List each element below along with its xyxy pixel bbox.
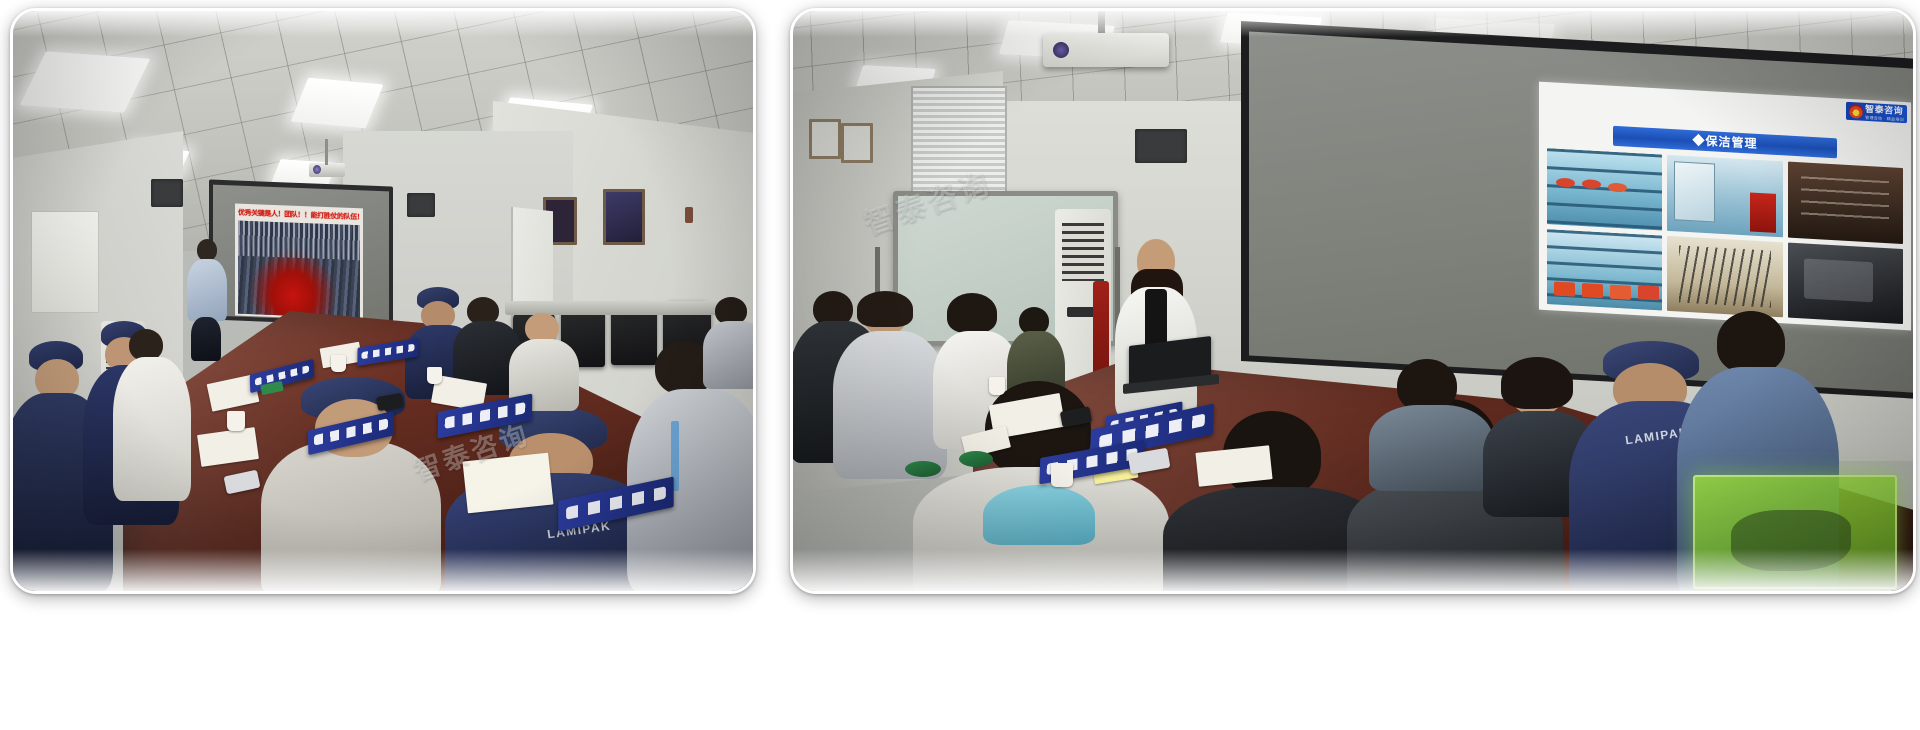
ac-vents <box>1062 223 1104 281</box>
paper-cup[interactable] <box>331 355 346 372</box>
left-photo[interactable]: 优秀关键是人！团队！！能打胜仗的队伍！！！ <box>10 8 756 594</box>
attendee <box>113 329 187 499</box>
presenter-trousers <box>191 317 221 361</box>
projection-screen: 优秀关键是人！团队！！能打胜仗的队伍！！！ <box>209 179 393 326</box>
attendee-hair <box>1501 357 1573 409</box>
wall-notice-1 <box>809 119 841 159</box>
projector-mount <box>325 139 328 165</box>
attendee <box>1369 359 1489 489</box>
green-dish[interactable] <box>905 461 941 477</box>
right-photo-scene: 智泰咨询 管理咨询 · 精益培训 ◆保洁管理 <box>793 11 1913 591</box>
wall-notice-2 <box>841 123 873 163</box>
slide-logo-subtext: 管理咨询 · 精益培训 <box>1865 115 1904 122</box>
slide-photo-grid <box>1547 148 1903 324</box>
presenter-head <box>197 239 217 261</box>
flower-logo-icon <box>1849 104 1863 119</box>
paper-cup[interactable] <box>989 377 1005 395</box>
wall-speaker-right <box>407 193 435 217</box>
wall-speaker-left <box>151 179 183 207</box>
paper-cup[interactable] <box>227 411 245 431</box>
attendee-head <box>1717 311 1785 373</box>
slide-photo-cell <box>1667 235 1782 317</box>
photo-collage-page: 优秀关键是人！团队！！能打胜仗的队伍！！！ <box>0 0 1920 730</box>
projection-screen-surface: 优秀关键是人！团队！！能打胜仗的队伍！！！ <box>213 185 389 323</box>
projected-slide: 智泰咨询 管理咨询 · 精益培训 ◆保洁管理 <box>1539 82 1911 331</box>
projector <box>1043 33 1169 67</box>
attendee-shirt-grey <box>261 441 441 591</box>
attendee <box>703 297 753 387</box>
attendee-hair <box>947 293 997 333</box>
whiteboard <box>31 211 99 313</box>
green-dish[interactable] <box>959 451 993 467</box>
projected-slide: 优秀关键是人！团队！！能打胜仗的队伍！！！ <box>235 203 363 320</box>
slide-photo-cell <box>1667 155 1782 237</box>
slide-logo: 智泰咨询 管理咨询 · 精益培训 <box>1846 102 1907 123</box>
projector-lens-icon <box>1053 42 1069 58</box>
slide-photo-cell <box>1547 229 1662 311</box>
left-photo-scene: 优秀关键是人！团队！！能打胜仗的队伍！！！ <box>13 11 753 591</box>
attendee-collar <box>983 485 1095 545</box>
attendee-hair <box>857 291 913 327</box>
slide-photo-cell <box>1788 162 1903 244</box>
presenter <box>181 239 229 359</box>
attendee <box>509 313 579 409</box>
right-photo[interactable]: 智泰咨询 管理咨询 · 精益培训 ◆保洁管理 <box>790 8 1916 594</box>
name-card-text <box>362 343 415 359</box>
attendee-torso <box>703 321 753 389</box>
slide-photo-cell <box>1547 148 1662 230</box>
paper-cup[interactable] <box>427 367 442 384</box>
attendee-shirt-white <box>113 357 191 501</box>
green-display-case <box>1693 475 1897 589</box>
paper-cup[interactable] <box>1051 463 1073 487</box>
wall-speaker <box>1135 129 1187 163</box>
attendee <box>261 377 441 591</box>
slide-image <box>238 221 360 319</box>
wall-fixture <box>685 207 693 223</box>
presenter-shirt <box>187 259 227 321</box>
projector-lens-icon <box>313 165 321 174</box>
attendee-torso <box>1369 405 1493 491</box>
window-blinds[interactable] <box>911 86 1007 198</box>
wall-picture-2 <box>603 189 645 245</box>
notebook[interactable] <box>463 453 554 514</box>
